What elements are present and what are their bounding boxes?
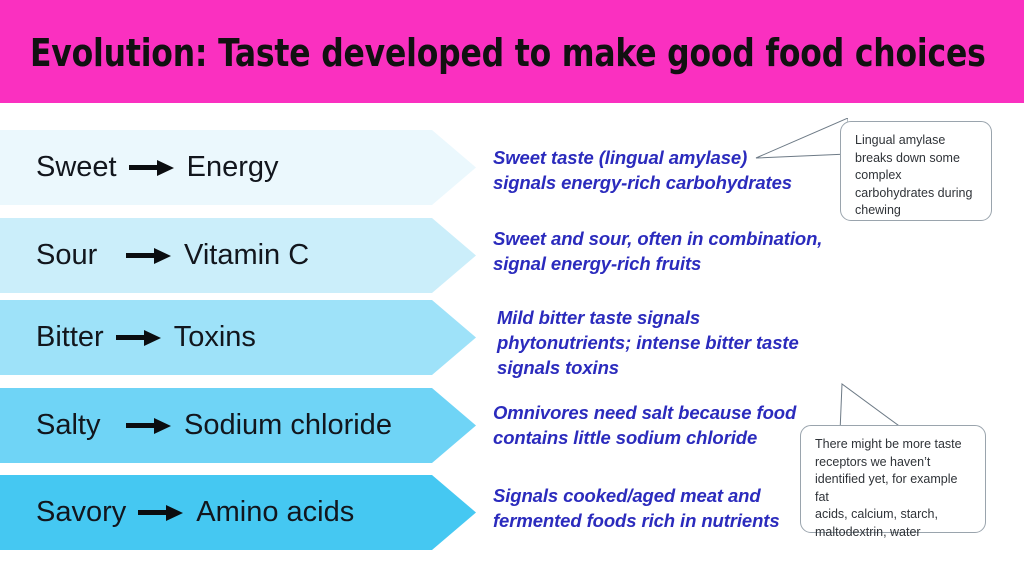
- callout-line: carbohydrates during: [855, 185, 979, 203]
- taste-bar-bitter[interactable]: Bitter Toxins: [0, 300, 476, 375]
- taste-bar-sour[interactable]: Sour Vitamin C: [0, 218, 476, 293]
- note-bitter: Mild bitter taste signals phytonutrients…: [497, 305, 827, 380]
- note-line: contains little sodium chloride: [493, 425, 813, 450]
- note-line: Signals cooked/aged meat and: [493, 483, 813, 508]
- page-title: Evolution: Taste developed to make good …: [30, 31, 913, 75]
- note-line: signals toxins: [497, 355, 827, 380]
- note-line: fermented foods rich in nutrients: [493, 508, 813, 533]
- slide-canvas: Evolution: Taste developed to make good …: [0, 0, 1024, 576]
- right-arrow-icon: [126, 245, 172, 267]
- note-line: signals energy-rich carbohydrates: [493, 170, 813, 195]
- taste-label: Savory: [36, 496, 126, 529]
- callout-line: receptors we haven’t: [815, 454, 973, 472]
- right-arrow-icon: [116, 327, 162, 349]
- taste-bar-salty[interactable]: Salty Sodium chloride: [0, 388, 476, 463]
- taste-label: Sour: [36, 239, 114, 272]
- callout-line: maltodextrin, water: [815, 524, 973, 542]
- taste-target-label: Sodium chloride: [184, 409, 392, 442]
- note-sour: Sweet and sour, often in combination, si…: [493, 226, 833, 276]
- right-arrow-icon: [138, 502, 184, 524]
- note-salty: Omnivores need salt because food contain…: [493, 400, 813, 450]
- callout-line: breaks down some: [855, 150, 979, 168]
- taste-bar-savory-text: Savory Amino acids: [0, 496, 354, 529]
- taste-bar-sweet-text: Sweet Energy: [0, 151, 279, 184]
- taste-bar-bitter-text: Bitter Toxins: [0, 321, 256, 354]
- note-line: Omnivores need salt because food: [493, 400, 813, 425]
- taste-bar-sweet[interactable]: Sweet Energy: [0, 130, 476, 205]
- taste-bar-savory[interactable]: Savory Amino acids: [0, 475, 476, 550]
- note-savory: Signals cooked/aged meat and fermented f…: [493, 483, 813, 533]
- taste-label: Salty: [36, 409, 114, 442]
- taste-target-label: Toxins: [174, 321, 256, 354]
- note-line: Sweet and sour, often in combination,: [493, 226, 833, 251]
- note-sweet: Sweet taste (lingual amylase) signals en…: [493, 145, 813, 195]
- taste-bar-salty-text: Salty Sodium chloride: [0, 409, 392, 442]
- note-line: signal energy-rich fruits: [493, 251, 833, 276]
- taste-label: Bitter: [36, 321, 104, 354]
- right-arrow-icon: [129, 157, 175, 179]
- note-line: Mild bitter taste signals: [497, 305, 827, 330]
- callout-line: chewing: [855, 202, 979, 220]
- taste-label: Sweet: [36, 151, 117, 184]
- taste-target-label: Energy: [187, 151, 279, 184]
- callout-lingual-amylase[interactable]: Lingual amylase breaks down some complex…: [840, 121, 992, 221]
- taste-target-label: Amino acids: [196, 496, 354, 529]
- callout-line: There might be more taste: [815, 436, 973, 454]
- callout-line: Lingual amylase: [855, 132, 979, 150]
- taste-target-label: Vitamin C: [184, 239, 309, 272]
- taste-bar-sour-text: Sour Vitamin C: [0, 239, 309, 272]
- callout-line: identified yet, for example fat: [815, 471, 973, 506]
- callout-line: complex: [855, 167, 979, 185]
- callout-line: acids, calcium, starch,: [815, 506, 973, 524]
- note-line: phytonutrients; intense bitter taste: [497, 330, 827, 355]
- callout-unknown-receptors[interactable]: There might be more taste receptors we h…: [800, 425, 986, 533]
- right-arrow-icon: [126, 415, 172, 437]
- note-line: Sweet taste (lingual amylase): [493, 145, 813, 170]
